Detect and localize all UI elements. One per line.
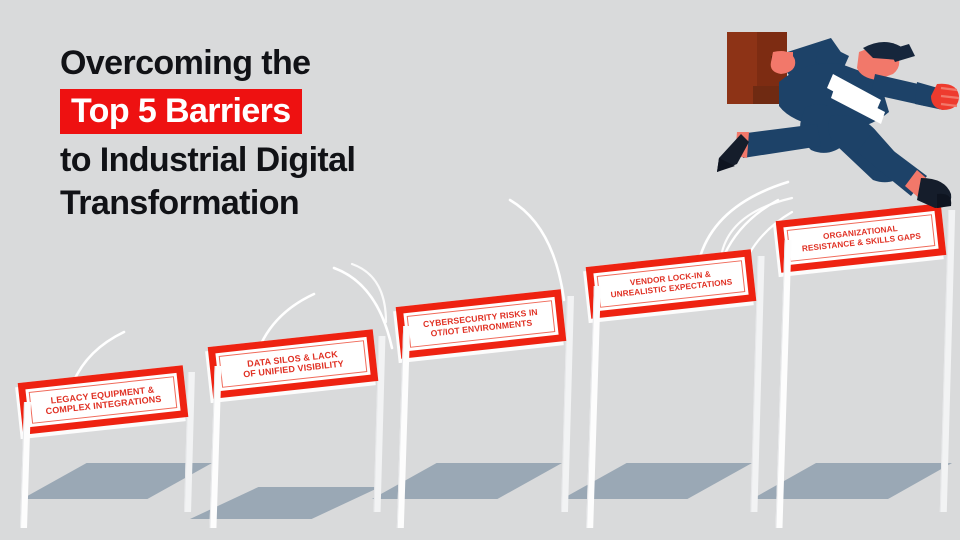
hurdle-2-post-near [209, 366, 221, 528]
hurdle-4-sign-inner: VENDOR LOCK-IN & UNREALISTIC EXPECTATION… [597, 260, 746, 308]
head [857, 42, 915, 80]
hurdle-4-sign[interactable]: VENDOR LOCK-IN & UNREALISTIC EXPECTATION… [586, 249, 757, 319]
title-line-3: to Industrial Digital [60, 139, 490, 182]
hurdle-4-signwrap: VENDOR LOCK-IN & UNREALISTIC EXPECTATION… [586, 249, 757, 319]
businessman-leaping-hurdle-illustration [713, 16, 960, 216]
rear-leg [717, 104, 845, 172]
hurdle-2-sign[interactable]: DATA SILOS & LACK OF UNIFIED VISIBILITY [208, 329, 379, 399]
hurdle-2-signwrap: DATA SILOS & LACK OF UNIFIED VISIBILITY [208, 329, 379, 399]
hurdle-5-sign-inner: ORGANIZATIONAL RESISTANCE & SKILLS GAPS [787, 214, 936, 262]
hurdle-1-signwrap: LEGACY EQUIPMENT & COMPLEX INTEGRATIONS [18, 365, 189, 435]
hurdle-4[interactable]: VENDOR LOCK-IN & UNREALISTIC EXPECTATION… [586, 252, 791, 528]
hurdle-5-post-near [775, 240, 791, 528]
title-line-1: Overcoming the [60, 42, 490, 85]
hurdle-1-sign-inner: LEGACY EQUIPMENT & COMPLEX INTEGRATIONS [29, 376, 178, 424]
hurdle-1[interactable]: LEGACY EQUIPMENT & COMPLEX INTEGRATIONS [18, 368, 223, 528]
hurdle-2[interactable]: DATA SILOS & LACK OF UNIFIED VISIBILITY [208, 332, 413, 528]
hurdle-3-signwrap: CYBERSECURITY RISKS IN OT/IOT ENVIRONMEN… [396, 289, 567, 359]
hurdle-2-sign-inner: DATA SILOS & LACK OF UNIFIED VISIBILITY [219, 340, 368, 388]
front-leg [828, 115, 951, 208]
page-title: Overcoming the Top 5 Barriers to Industr… [60, 42, 490, 225]
hurdle-1-sign[interactable]: LEGACY EQUIPMENT & COMPLEX INTEGRATIONS [18, 365, 189, 435]
hurdle-3-sign-inner: CYBERSECURITY RISKS IN OT/IOT ENVIRONMEN… [407, 300, 556, 348]
hurdle-5[interactable]: ORGANIZATIONAL RESISTANCE & SKILLS GAPS [776, 206, 960, 528]
hurdle-3-post-near [397, 326, 410, 528]
hurdle-3-sign[interactable]: CYBERSECURITY RISKS IN OT/IOT ENVIRONMEN… [396, 289, 567, 359]
hurdle-4-post-near [586, 286, 601, 528]
title-highlight: Top 5 Barriers [60, 89, 302, 134]
hurdle-3[interactable]: CYBERSECURITY RISKS IN OT/IOT ENVIRONMEN… [396, 292, 601, 528]
infographic-canvas: Overcoming the Top 5 Barriers to Industr… [0, 0, 960, 540]
title-line-4: Transformation [60, 182, 490, 225]
